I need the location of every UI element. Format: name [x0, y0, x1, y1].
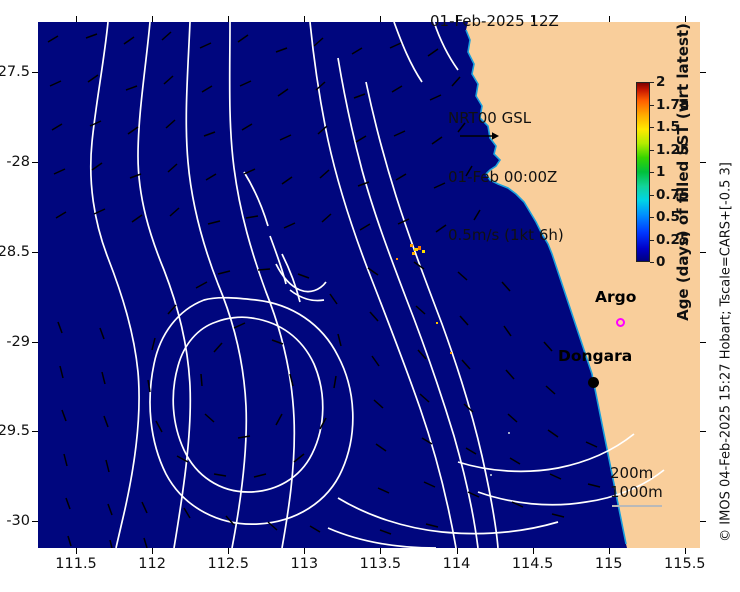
y-axis-label: -27.5 [0, 64, 30, 80]
top-axis-tick [304, 16, 305, 22]
right-axis-tick [700, 521, 706, 522]
x-axis-label: 114.5 [512, 556, 554, 572]
x-axis-tick [609, 548, 610, 554]
x-axis-tick [457, 548, 458, 554]
x-axis-label: 113.5 [360, 556, 402, 572]
top-axis-tick [228, 16, 229, 22]
y-axis-tick [32, 431, 38, 432]
colorbar-tick [650, 172, 654, 173]
depth-1000m-label: 1000m [610, 483, 663, 502]
top-axis-tick [457, 16, 458, 22]
dongara-label: Dongara [558, 347, 632, 365]
argo-label: Argo [595, 288, 636, 306]
y-axis-tick [32, 521, 38, 522]
colorbar-tick [650, 195, 654, 196]
right-axis-tick [700, 162, 706, 163]
colorbar-tick-label: 0.5 [656, 209, 680, 225]
x-axis-label: 112 [138, 556, 166, 572]
y-axis-tick [32, 72, 38, 73]
x-axis-label: 114 [443, 556, 471, 572]
reference-vector-arrow-icon [460, 130, 500, 142]
colorbar-tick-label: 1 [656, 164, 665, 180]
top-axis-tick [685, 16, 686, 22]
date-title: 01-Feb-2025 12Z [430, 12, 559, 30]
colorbar-tick [650, 262, 654, 263]
sst-age-map-figure: 01-Feb-2025 12Z NRT00 GSL 01-Feb 00:00Z … [0, 0, 740, 592]
y-axis-label: -28.5 [0, 244, 30, 260]
right-axis-tick [700, 431, 706, 432]
argo-float-marker-icon[interactable] [616, 318, 625, 327]
colorbar-gradient [636, 82, 650, 262]
depth-200m-label: 200m [610, 464, 663, 483]
colorbar-tick-label: 1.5 [656, 119, 680, 135]
colorbar-tick-label: 0.25 [656, 232, 689, 248]
y-axis-label: -28 [6, 154, 30, 170]
colorbar-tick-label: 0 [656, 254, 665, 270]
x-axis-tick [380, 548, 381, 554]
credit-text: © IMOS 04-Feb-2025 15:27 Hobart; Tscale=… [719, 162, 734, 542]
map-vector-layer [38, 22, 700, 548]
right-axis-tick [700, 342, 706, 343]
right-axis-tick [700, 252, 706, 253]
y-axis-label: -29 [6, 334, 30, 350]
colorbar-tick [650, 82, 654, 83]
x-axis-tick [228, 548, 229, 554]
y-axis-tick [32, 162, 38, 163]
colorbar-tick-label: 2 [656, 74, 665, 90]
colorbar-tick-label: 0.75 [656, 187, 689, 203]
map-plot-area[interactable] [38, 22, 700, 548]
x-axis-label: 115 [595, 556, 623, 572]
top-axis-tick [152, 16, 153, 22]
dongara-town-marker-icon[interactable] [588, 377, 599, 388]
x-axis-label: 113 [290, 556, 318, 572]
x-axis-label: 115.5 [664, 556, 706, 572]
colorbar-tick [650, 240, 654, 241]
nrt-info-block: NRT00 GSL 01-Feb 00:00Z 0.5m/s (1kt 6h) [448, 70, 564, 285]
top-axis-tick [380, 16, 381, 22]
y-axis-tick [32, 342, 38, 343]
top-axis-tick [76, 16, 77, 22]
nrt-time-label: 01-Feb 00:00Z [448, 168, 564, 188]
y-axis-tick [32, 252, 38, 253]
colorbar-tick [650, 217, 654, 218]
nrt-model-label: NRT00 GSL [448, 109, 564, 129]
x-axis-label: 112.5 [207, 556, 249, 572]
colorbar-tick-label: 1.75 [656, 97, 689, 113]
x-axis-label: 111.5 [55, 556, 97, 572]
depth-contour-legend: 200m 1000m [610, 464, 663, 502]
colorbar-tick [650, 150, 654, 151]
colorbar-title: Age (days) of filled SST (wrt latest) [674, 23, 692, 321]
depth-legend-line [612, 505, 662, 507]
right-axis-tick [700, 72, 706, 73]
nrt-scale-label: 0.5m/s (1kt 6h) [448, 226, 564, 246]
y-axis-label: -30 [6, 513, 30, 529]
top-axis-tick [533, 16, 534, 22]
x-axis-tick [76, 548, 77, 554]
colorbar-tick [650, 127, 654, 128]
colorbar-tick-label: 1.25 [656, 142, 689, 158]
x-axis-tick [533, 548, 534, 554]
x-axis-tick [304, 548, 305, 554]
x-axis-tick [685, 548, 686, 554]
x-axis-tick [152, 548, 153, 554]
top-axis-tick [609, 16, 610, 22]
colorbar-tick [650, 105, 654, 106]
y-axis-label: -29.5 [0, 423, 30, 439]
